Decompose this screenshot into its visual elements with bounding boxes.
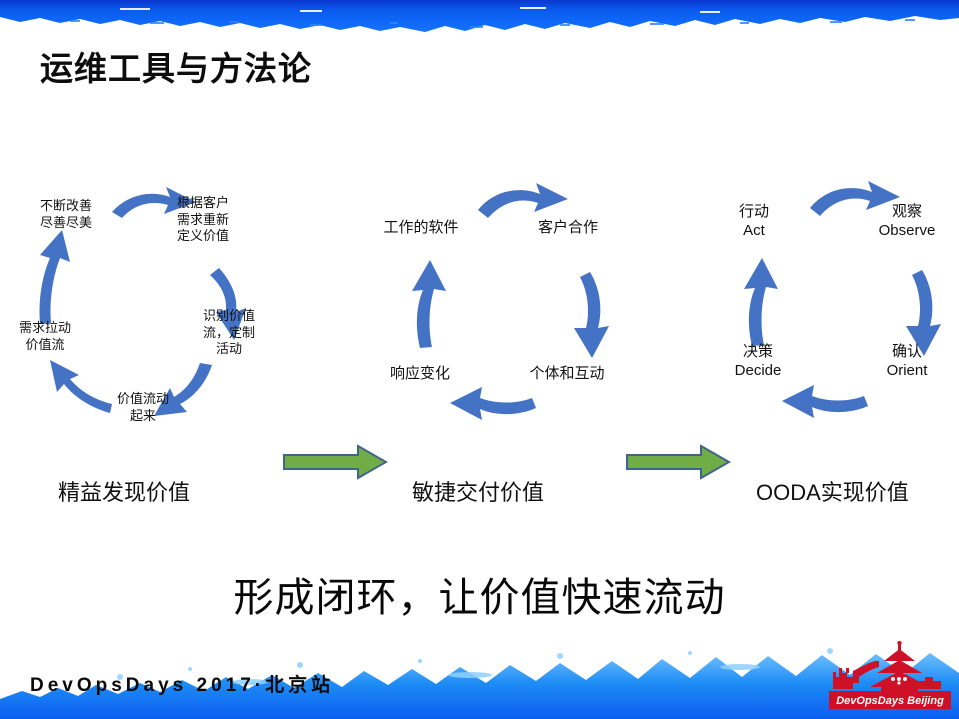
node-line: 起来 <box>104 408 182 425</box>
devopsdays-beijing-logo: DevOpsDays Beijing <box>829 641 951 713</box>
node-line: 个体和互动 <box>512 364 622 383</box>
node-line: 尽善尽美 <box>18 215 114 232</box>
node-line: Decide <box>706 361 810 380</box>
node-line: 需求拉动 <box>6 320 84 337</box>
node-observe: 观察 Observe <box>852 202 959 240</box>
node-line: 活动 <box>190 341 268 358</box>
cycle-agile: 工作的软件 客户合作 个体和互动 响应变化 <box>360 160 660 460</box>
node-line: 响应变化 <box>372 364 468 383</box>
node-line: Observe <box>852 221 959 240</box>
headline: 形成闭环，让价值快速流动 <box>0 565 959 623</box>
node-value-flow: 价值流动 起来 <box>104 391 182 424</box>
node-line: Orient <box>852 361 959 380</box>
node-line: 观察 <box>852 202 959 221</box>
node-line: 客户合作 <box>520 218 616 237</box>
node-line: 价值流动 <box>104 391 182 408</box>
footer-event-label: DevOpsDays 2017·北京站 <box>30 670 334 697</box>
caption-lean: 精益发现价值 <box>58 475 190 507</box>
node-line: 行动 <box>706 202 802 221</box>
node-customer-collaboration: 客户合作 <box>520 218 616 237</box>
node-improve: 不断改善 尽善尽美 <box>18 198 114 231</box>
page-title: 运维工具与方法论 <box>40 42 312 90</box>
node-line: 决策 <box>706 342 810 361</box>
node-redefine-value: 根据客户 需求重新 定义价值 <box>164 195 242 245</box>
node-demand-pull: 需求拉动 价值流 <box>6 320 84 353</box>
caption-ooda: OODA实现价值 <box>756 475 909 507</box>
node-line: 需求重新 <box>164 212 242 229</box>
node-working-software: 工作的软件 <box>366 218 476 237</box>
node-identify-value-stream: 识别价值 流，定制 活动 <box>190 308 268 358</box>
logo-text: DevOpsDays Beijing <box>836 695 944 707</box>
node-line: 不断改善 <box>18 198 114 215</box>
node-line: 定义价值 <box>164 228 242 245</box>
top-banner <box>0 0 959 34</box>
cycle-ooda: 行动 Act 观察 Observe 确认 Orient 决策 Decide <box>700 160 959 460</box>
node-line: 识别价值 <box>190 308 268 325</box>
node-individuals-interactions: 个体和互动 <box>512 364 622 383</box>
node-line: Act <box>706 221 802 240</box>
node-respond-to-change: 响应变化 <box>372 364 468 383</box>
node-orient: 确认 Orient <box>852 342 959 380</box>
value-flow-diagram: 不断改善 尽善尽美 根据客户 需求重新 定义价值 识别价值 流，定制 活动 价值… <box>0 160 959 460</box>
caption-agile: 敏捷交付价值 <box>412 475 544 507</box>
node-line: 流，定制 <box>190 325 268 342</box>
cycle-lean: 不断改善 尽善尽美 根据客户 需求重新 定义价值 识别价值 流，定制 活动 价值… <box>0 160 300 460</box>
node-act: 行动 Act <box>706 202 802 240</box>
node-line: 工作的软件 <box>366 218 476 237</box>
node-line: 根据客户 <box>164 195 242 212</box>
node-line: 价值流 <box>6 337 84 354</box>
node-decide: 决策 Decide <box>706 342 810 380</box>
node-line: 确认 <box>852 342 959 361</box>
